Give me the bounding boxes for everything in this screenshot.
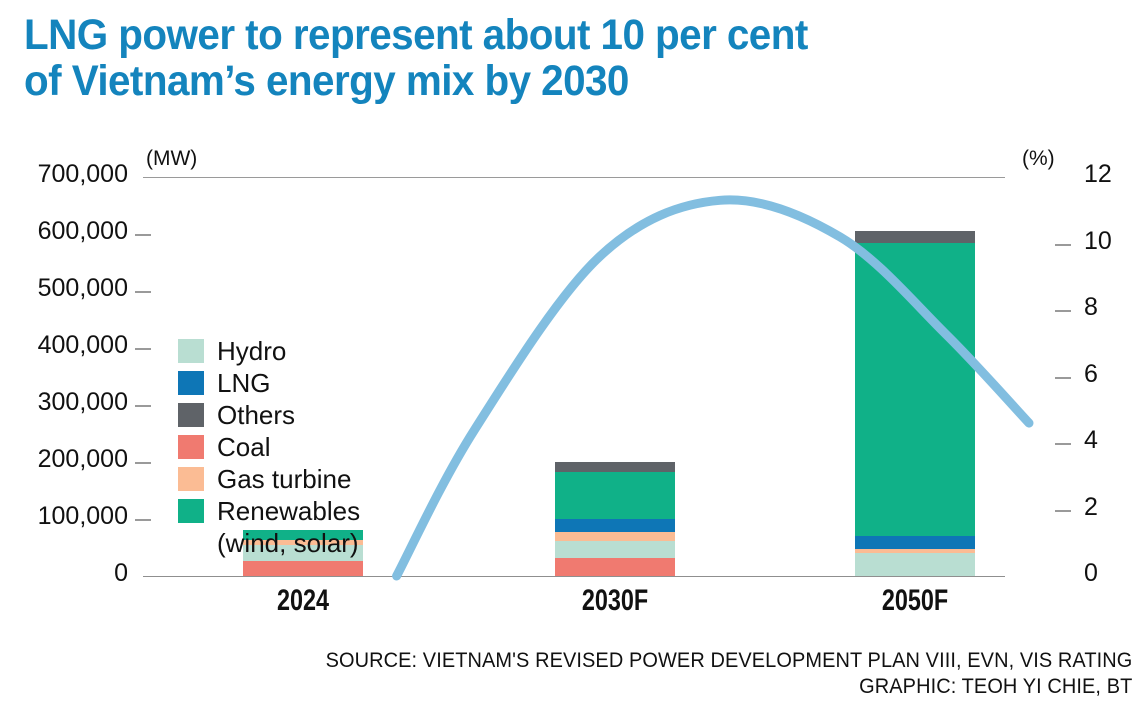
x-axis-label-2030F: 2030F <box>537 584 693 618</box>
left-axis-tick-label: 600,000 <box>8 217 128 246</box>
x-axis-label-2024: 2024 <box>225 584 381 618</box>
right-axis-tick-label: 2 <box>1084 493 1134 522</box>
legend-label-coal: Coal <box>217 432 270 462</box>
right-axis-tick-label: 6 <box>1084 360 1134 389</box>
right-axis-tick-label: 10 <box>1084 227 1134 256</box>
right-axis-tick-mark <box>1055 310 1071 312</box>
right-axis-tick-label: 4 <box>1084 426 1134 455</box>
legend-item-coal: Coal <box>178 432 360 464</box>
graphic-credit: GRAPHIC: TEOH YI CHIE, BT <box>57 674 1140 700</box>
footer: SOURCE: VIETNAM'S REVISED POWER DEVELOPM… <box>0 648 1140 700</box>
left-axis-tick-label: 100,000 <box>8 502 128 531</box>
legend-item-hydro: Hydro <box>178 336 360 368</box>
left-axis-tick-label: 200,000 <box>8 445 128 474</box>
right-axis-unit: (%) <box>1022 147 1055 171</box>
left-axis-tick-label: 500,000 <box>8 274 128 303</box>
legend-label-renewables: Renewables <box>217 496 360 526</box>
legend: Hydro LNG Others Coal Gas turbine Renewa… <box>178 336 360 558</box>
right-axis-tick-mark <box>1055 244 1071 246</box>
source-credit: SOURCE: VIETNAM'S REVISED POWER DEVELOPM… <box>57 648 1140 674</box>
right-axis-tick-mark <box>1055 377 1071 379</box>
legend-label-lng: LNG <box>217 368 270 398</box>
page-title: LNG power to represent about 10 per cent… <box>24 12 1020 105</box>
legend-swatch-others <box>178 403 204 427</box>
right-axis-tick-label: 0 <box>1084 559 1134 588</box>
legend-item-lng: LNG <box>178 368 360 400</box>
left-axis-tick-label: 0 <box>8 559 128 588</box>
legend-item-renewables: Renewables <box>178 496 360 528</box>
right-axis-tick-mark <box>1055 443 1071 445</box>
legend-swatch-hydro <box>178 339 204 363</box>
legend-item-gas-turbine: Gas turbine <box>178 464 360 496</box>
legend-swatch-coal <box>178 435 204 459</box>
legend-swatch-renewables <box>178 499 204 523</box>
plot-baseline <box>143 576 1005 577</box>
left-axis-tick-label: 700,000 <box>8 160 128 189</box>
chart-area: (MW) (%) 700,000600,000500,000400,000300… <box>0 140 1140 645</box>
left-axis-tick-label: 400,000 <box>8 331 128 360</box>
left-axis-tick-label: 300,000 <box>8 388 128 417</box>
left-axis-unit: (MW) <box>146 147 197 171</box>
legend-label-gas-turbine: Gas turbine <box>217 464 351 494</box>
legend-label-others: Others <box>217 400 295 430</box>
legend-item-others: Others <box>178 400 360 432</box>
right-axis-tick-mark <box>1055 510 1071 512</box>
legend-sublabel-renewables: (wind, solar) <box>217 528 360 558</box>
right-axis-tick-label: 12 <box>1084 160 1134 189</box>
legend-swatch-gas-turbine <box>178 467 204 491</box>
infographic-page: LNG power to represent about 10 per cent… <box>0 0 1140 722</box>
right-axis-tick-label: 8 <box>1084 293 1134 322</box>
title-line-1: LNG power to represent about 10 per cent <box>24 12 1020 58</box>
legend-swatch-lng <box>178 371 204 395</box>
legend-label-hydro: Hydro <box>217 336 286 366</box>
title-line-2: of Vietnam’s energy mix by 2030 <box>24 58 1020 104</box>
x-axis-label-2050F: 2050F <box>837 584 993 618</box>
